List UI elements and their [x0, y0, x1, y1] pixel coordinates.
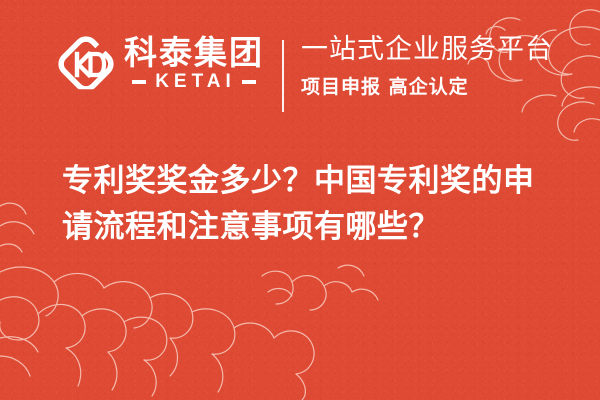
brand-name-en-row: KETAI	[124, 72, 264, 92]
brand-slogan: 一站式企业服务平台 项目申报 高企认定	[301, 32, 553, 100]
dash-icon	[132, 80, 146, 84]
page-title: 专利奖奖金多少？中国专利奖的申 请流程和注意事项有哪些？	[62, 158, 562, 250]
brand-name-cn: 科泰集团	[124, 36, 264, 70]
page-title-line-1: 专利奖奖金多少？中国专利奖的申	[62, 158, 562, 204]
brand-name-en: KETAI	[146, 72, 242, 92]
dash-icon	[242, 80, 256, 84]
slogan-primary: 一站式企业服务平台	[301, 32, 553, 68]
brand-wordmark: 科泰集团 KETAI	[124, 36, 264, 92]
banner-header: 科泰集团 KETAI 一站式企业服务平台 项目申报 高企认定	[0, 30, 600, 122]
promo-banner: 科泰集团 KETAI 一站式企业服务平台 项目申报 高企认定 专利奖奖金多少？中…	[0, 0, 600, 400]
ketai-diamond-monogram-icon	[56, 34, 116, 94]
page-title-line-2: 请流程和注意事项有哪些？	[62, 204, 562, 250]
slogan-secondary: 项目申报 高企认定	[301, 74, 553, 100]
vertical-divider-icon	[282, 40, 284, 112]
brand-logo[interactable]: 科泰集团 KETAI	[56, 34, 264, 94]
